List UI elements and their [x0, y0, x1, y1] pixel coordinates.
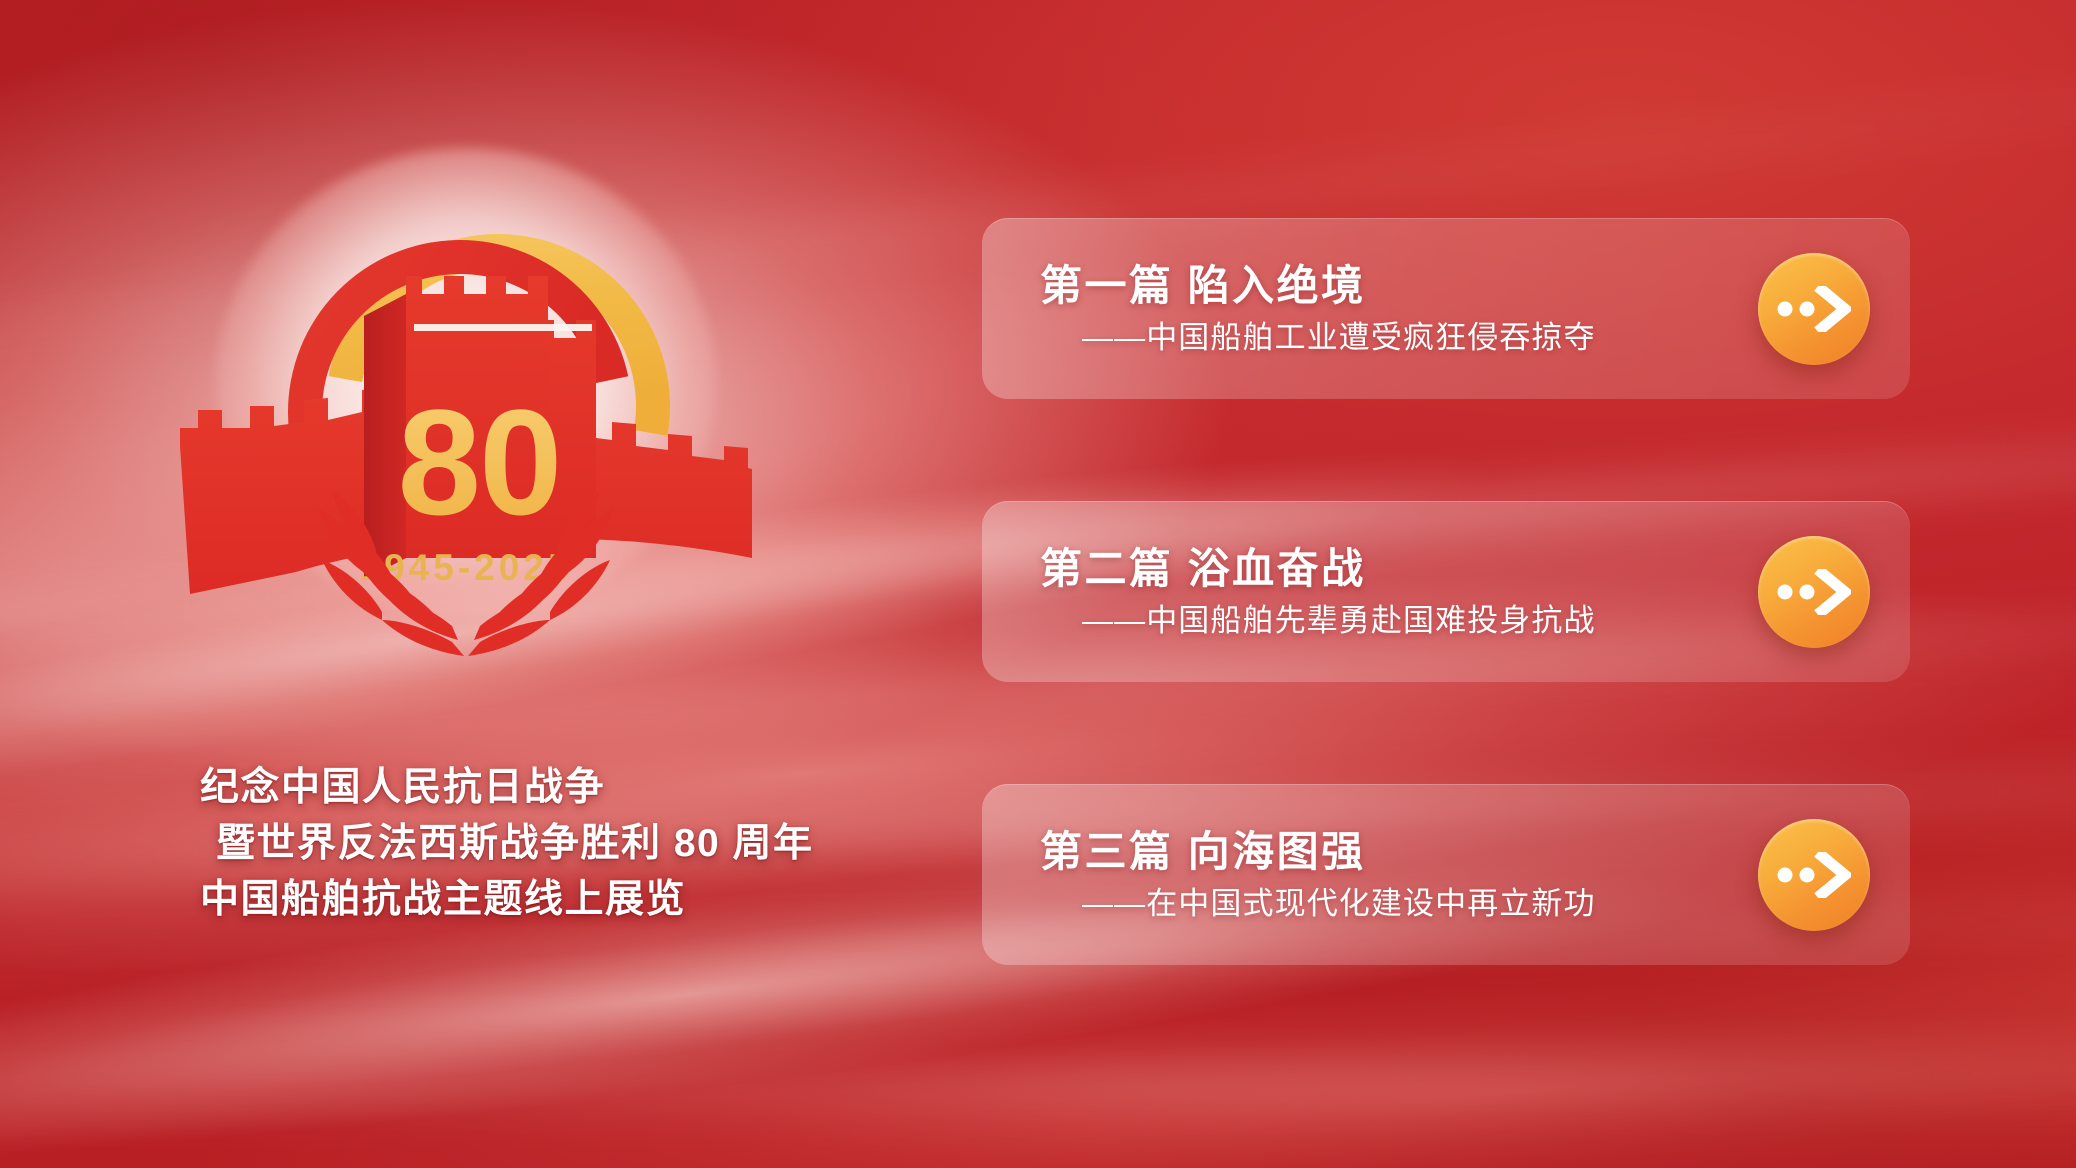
- emblem-number-80: 80: [398, 378, 561, 546]
- chapter-card-2-arrow-button[interactable]: [1758, 536, 1870, 648]
- double-dot-chevron-right-icon: [1777, 852, 1851, 898]
- chapter-card-3[interactable]: 第三篇 向海图强 ——在中国式现代化建设中再立新功: [982, 784, 1910, 965]
- double-dot-chevron-right-icon: [1777, 569, 1851, 615]
- chapter-card-1-title: 第一篇 陷入绝境: [1040, 261, 1596, 311]
- chapter-card-1[interactable]: 第一篇 陷入绝境 ——中国船舶工业遭受疯狂侵吞掠夺: [982, 218, 1910, 399]
- chapter-card-3-title: 第三篇 向海图强: [1040, 827, 1596, 877]
- chapter-card-1-text: 第一篇 陷入绝境 ——中国船舶工业遭受疯狂侵吞掠夺: [1040, 218, 1596, 399]
- anniversary-emblem: 80 1945-2025: [176, 128, 756, 673]
- title-line-2: 暨世界反法西斯战争胜利 80 周年: [200, 816, 840, 872]
- chapter-card-1-subtitle: ——中国船舶工业遭受疯狂侵吞掠夺: [1040, 319, 1596, 356]
- chapter-card-2-subtitle: ——中国船舶先辈勇赴国难投身抗战: [1040, 602, 1596, 639]
- emblem-graphic: 80 1945-2025: [176, 128, 756, 673]
- emblem-tower-band: [414, 324, 592, 331]
- chapter-card-2[interactable]: 第二篇 浴血奋战 ——中国船舶先辈勇赴国难投身抗战: [982, 501, 1910, 682]
- chapter-card-2-text: 第二篇 浴血奋战 ——中国船舶先辈勇赴国难投身抗战: [1040, 501, 1596, 682]
- poster-root: 80 1945-2025: [0, 0, 2076, 1168]
- chapter-card-3-subtitle: ——在中国式现代化建设中再立新功: [1040, 885, 1596, 922]
- double-dot-chevron-right-icon: [1777, 286, 1851, 332]
- chapter-card-list: 第一篇 陷入绝境 ——中国船舶工业遭受疯狂侵吞掠夺 第二篇 浴血奋战 ——中国船…: [982, 218, 1910, 965]
- chapter-card-2-title: 第二篇 浴血奋战: [1040, 544, 1596, 594]
- chapter-card-3-text: 第三篇 向海图强 ——在中国式现代化建设中再立新功: [1040, 784, 1596, 965]
- chapter-card-1-arrow-button[interactable]: [1758, 253, 1870, 365]
- chapter-card-3-arrow-button[interactable]: [1758, 819, 1870, 931]
- title-line-1: 纪念中国人民抗日战争: [200, 760, 840, 816]
- exhibition-title: 纪念中国人民抗日战争 暨世界反法西斯战争胜利 80 周年 中国船舶抗战主题线上展…: [200, 760, 840, 928]
- title-line-3: 中国船舶抗战主题线上展览: [200, 872, 840, 928]
